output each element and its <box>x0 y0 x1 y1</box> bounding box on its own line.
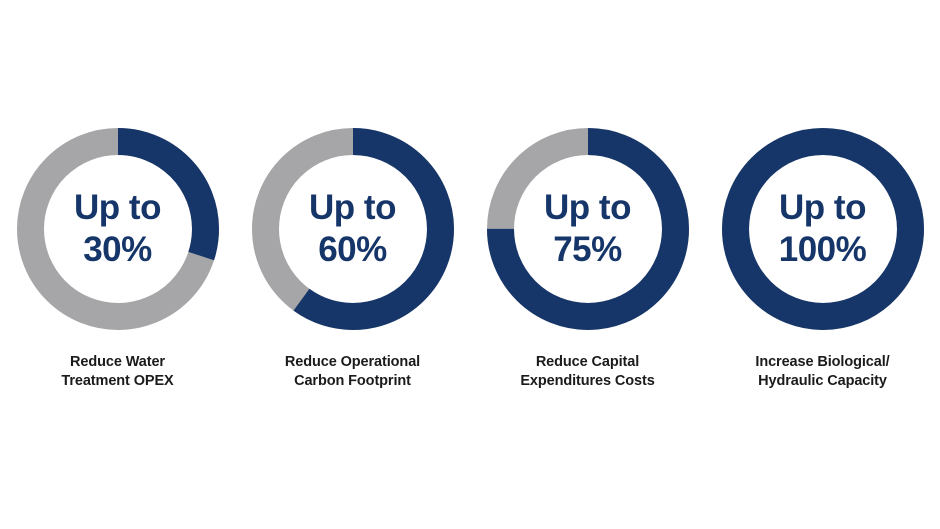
donut-ring-svg-4 <box>722 128 924 330</box>
donut-infographic: Up to 30% Reduce Water Treatment OPEX Up… <box>0 0 940 529</box>
donut-chart-row: Up to 30% Reduce Water Treatment OPEX Up… <box>0 128 940 391</box>
donut-caption-line2-1: Treatment OPEX <box>3 372 233 391</box>
donut-caption-line2-4: Hydraulic Capacity <box>708 372 938 391</box>
donut-chart-3: Up to 75% <box>487 128 689 330</box>
donut-card-reduce-water-treatment-opex: Up to 30% Reduce Water Treatment OPEX <box>0 128 235 391</box>
donut-caption-1: Reduce Water Treatment OPEX <box>3 353 233 391</box>
donut-caption-line2-2: Carbon Footprint <box>238 372 468 391</box>
donut-caption-line1-2: Reduce Operational <box>238 353 468 372</box>
donut-chart-1: Up to 30% <box>17 128 219 330</box>
donut-caption-2: Reduce Operational Carbon Footprint <box>238 353 468 391</box>
donut-card-reduce-operational-carbon-footprint: Up to 60% Reduce Operational Carbon Foot… <box>235 128 470 391</box>
donut-ring-svg-3 <box>487 128 689 330</box>
donut-chart-2: Up to 60% <box>252 128 454 330</box>
donut-caption-line1-1: Reduce Water <box>3 353 233 372</box>
donut-value-arc-4 <box>735 142 910 317</box>
donut-ring-svg-1 <box>17 128 219 330</box>
donut-caption-line1-3: Reduce Capital <box>473 353 703 372</box>
donut-caption-3: Reduce Capital Expenditures Costs <box>473 353 703 391</box>
donut-ring-svg-2 <box>252 128 454 330</box>
donut-card-increase-biological-hydraulic-capacity: Up to 100% Increase Biological/ Hydrauli… <box>705 128 940 391</box>
donut-card-reduce-capital-expenditures-costs: Up to 75% Reduce Capital Expenditures Co… <box>470 128 705 391</box>
donut-caption-line2-3: Expenditures Costs <box>473 372 703 391</box>
donut-caption-line1-4: Increase Biological/ <box>708 353 938 372</box>
donut-chart-4: Up to 100% <box>722 128 924 330</box>
donut-caption-4: Increase Biological/ Hydraulic Capacity <box>708 353 938 391</box>
